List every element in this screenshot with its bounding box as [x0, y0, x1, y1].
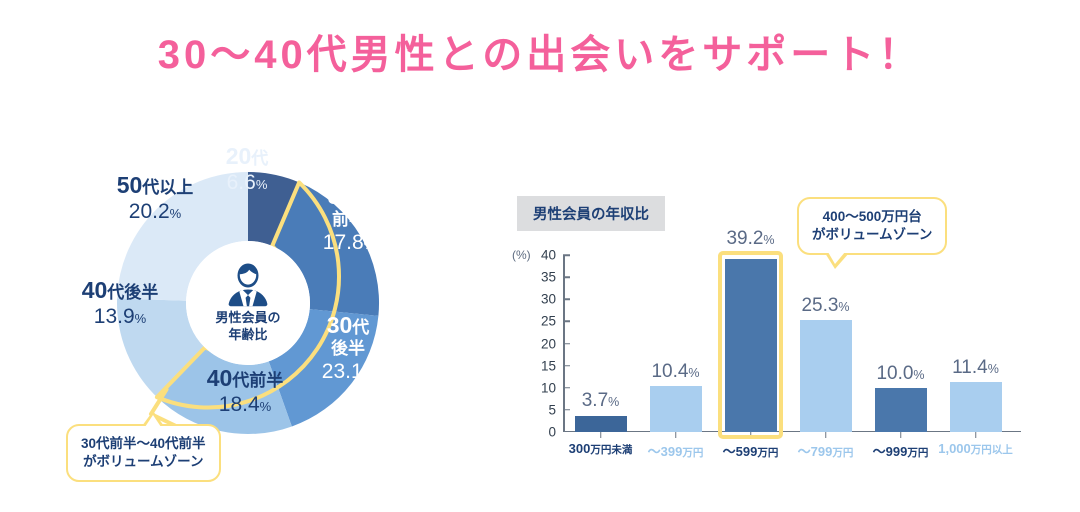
bar-slot-2: 10.4% 〜399万円 — [638, 255, 713, 432]
x-tick-mark-5 — [900, 432, 902, 438]
y-tick-label-15: 15 — [541, 358, 556, 373]
y-tick-label-25: 25 — [541, 314, 556, 329]
y-tick-label-20: 20 — [541, 336, 556, 351]
x-label-1: 300万円未満 — [569, 441, 633, 457]
bar-399man[interactable] — [650, 386, 702, 432]
x-tick-mark-3 — [750, 432, 752, 438]
bar-599man[interactable] — [725, 259, 777, 433]
bar-value-3: 39.2% — [726, 228, 774, 250]
y-tick-label-35: 35 — [541, 270, 556, 285]
bar-slot-5: 10.0% 〜999万円 — [863, 255, 938, 432]
x-label-4: 〜799万円 — [798, 441, 854, 460]
bar-callout-line1: 400〜500万円台 — [812, 208, 932, 226]
bar-slot-3: 39.2% 〜599万円 — [713, 255, 788, 432]
bar-slot-1: 3.7% 300万円未満 — [563, 255, 638, 432]
x-label-2: 〜399万円 — [648, 441, 704, 460]
donut-callout-line1: 30代前半〜40代前半 — [81, 435, 206, 453]
bar-callout-line2: がボリュームゾーン — [812, 226, 932, 244]
bar-799man[interactable] — [800, 320, 852, 432]
bar-value-6: 11.4% — [952, 357, 999, 379]
male-person-icon — [225, 263, 271, 307]
bar-value-1: 3.7% — [582, 390, 620, 412]
bar-value-4: 25.3% — [801, 295, 849, 317]
bar-slot-4: 25.3% 〜799万円 — [788, 255, 863, 432]
x-tick-mark-6 — [975, 432, 977, 438]
donut-callout: 30代前半〜40代前半 がボリュームゾーン — [66, 424, 221, 482]
donut-center-caption: 男性会員の 年齢比 — [215, 310, 280, 343]
bar-value-5: 10.0% — [876, 363, 924, 385]
bar-callout-tail-inner — [828, 252, 845, 264]
bar-300man-miman[interactable] — [575, 416, 627, 432]
donut-callout-line2: がボリュームゾーン — [81, 453, 206, 471]
x-tick-mark-2 — [675, 432, 677, 438]
x-label-5: 〜999万円 — [873, 441, 929, 460]
y-tick-label-0: 0 — [548, 425, 556, 440]
bar-1000man-ijo[interactable] — [950, 382, 1002, 433]
x-tick-mark-4 — [825, 432, 827, 438]
bar-callout: 400〜500万円台 がボリュームゾーン — [797, 197, 947, 255]
y-tick-label-40: 40 — [541, 248, 556, 263]
page-title: 30〜40代男性との出会いをサポート！ — [0, 22, 1080, 80]
bar-value-2: 10.4% — [651, 361, 699, 383]
y-tick-label-5: 5 — [548, 402, 556, 417]
x-label-3: 〜599万円 — [723, 441, 779, 460]
bar-chart-title: 男性会員の年収比 — [517, 196, 665, 231]
y-tick-label-10: 10 — [541, 380, 556, 395]
x-label-6: 1,000万円以上 — [938, 441, 1013, 457]
bar-chart-plot-area: 40 35 30 25 20 15 10 5 0 3.7% 300万円未満 10… — [563, 255, 1013, 432]
donut-callout-tail-inner — [145, 415, 161, 427]
bar-slot-6: 11.4% 1,000万円以上 — [938, 255, 1013, 432]
y-tick-label-30: 30 — [541, 292, 556, 307]
x-tick-mark-1 — [600, 432, 602, 438]
bar-999man[interactable] — [875, 388, 927, 432]
center-caption-line1: 男性会員の — [215, 310, 280, 325]
bar-chart: 男性会員の年収比 (%) 40 35 30 25 20 15 10 5 0 3.… — [508, 190, 1028, 470]
y-axis-unit-label: (%) — [512, 248, 531, 262]
center-caption-line2: 年齢比 — [228, 327, 267, 342]
donut-center-hub: 男性会員の 年齢比 — [186, 241, 310, 365]
